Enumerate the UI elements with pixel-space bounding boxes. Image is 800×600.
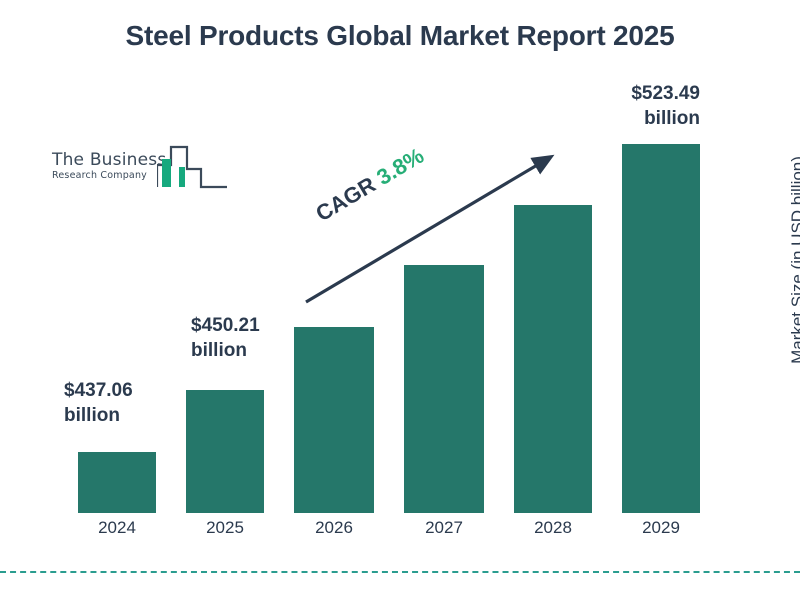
callout-2029-amount: $523.49 xyxy=(585,81,700,106)
bar-2028[interactable] xyxy=(514,205,592,513)
y-axis-title: Market Size (in USD billion) xyxy=(788,130,800,390)
x-axis-label-2026: 2026 xyxy=(284,518,384,538)
callout-2024: $437.06 billion xyxy=(64,378,133,428)
x-axis-label-2024: 2024 xyxy=(67,518,167,538)
callout-2025-amount: $450.21 xyxy=(191,313,260,338)
footer-divider xyxy=(0,571,800,573)
x-axis-label-2029: 2029 xyxy=(611,518,711,538)
x-axis-label-2028: 2028 xyxy=(503,518,603,538)
callout-2025-unit: billion xyxy=(191,338,260,363)
cagr-label: CAGR xyxy=(311,172,379,227)
bar-2029[interactable] xyxy=(622,144,700,513)
x-axis-label-2025: 2025 xyxy=(175,518,275,538)
chart-canvas: Steel Products Global Market Report 2025… xyxy=(0,0,800,600)
callout-2024-amount: $437.06 xyxy=(64,378,133,403)
bar-2027[interactable] xyxy=(404,265,484,513)
callout-2025: $450.21 billion xyxy=(191,313,260,363)
callout-2029: $523.49 billion xyxy=(585,81,700,131)
bar-plot-area: 2024 2025 2026 2027 2028 2029 CAGR 3.8% … xyxy=(0,0,800,600)
callout-2024-unit: billion xyxy=(64,403,133,428)
bar-2025[interactable] xyxy=(186,390,264,513)
bar-2026[interactable] xyxy=(294,327,374,513)
callout-2029-unit: billion xyxy=(585,106,700,131)
cagr-value: 3.8% xyxy=(372,143,428,190)
x-axis-label-2027: 2027 xyxy=(394,518,494,538)
bar-2024[interactable] xyxy=(78,452,156,513)
cagr-annotation: CAGR 3.8% xyxy=(311,143,428,227)
